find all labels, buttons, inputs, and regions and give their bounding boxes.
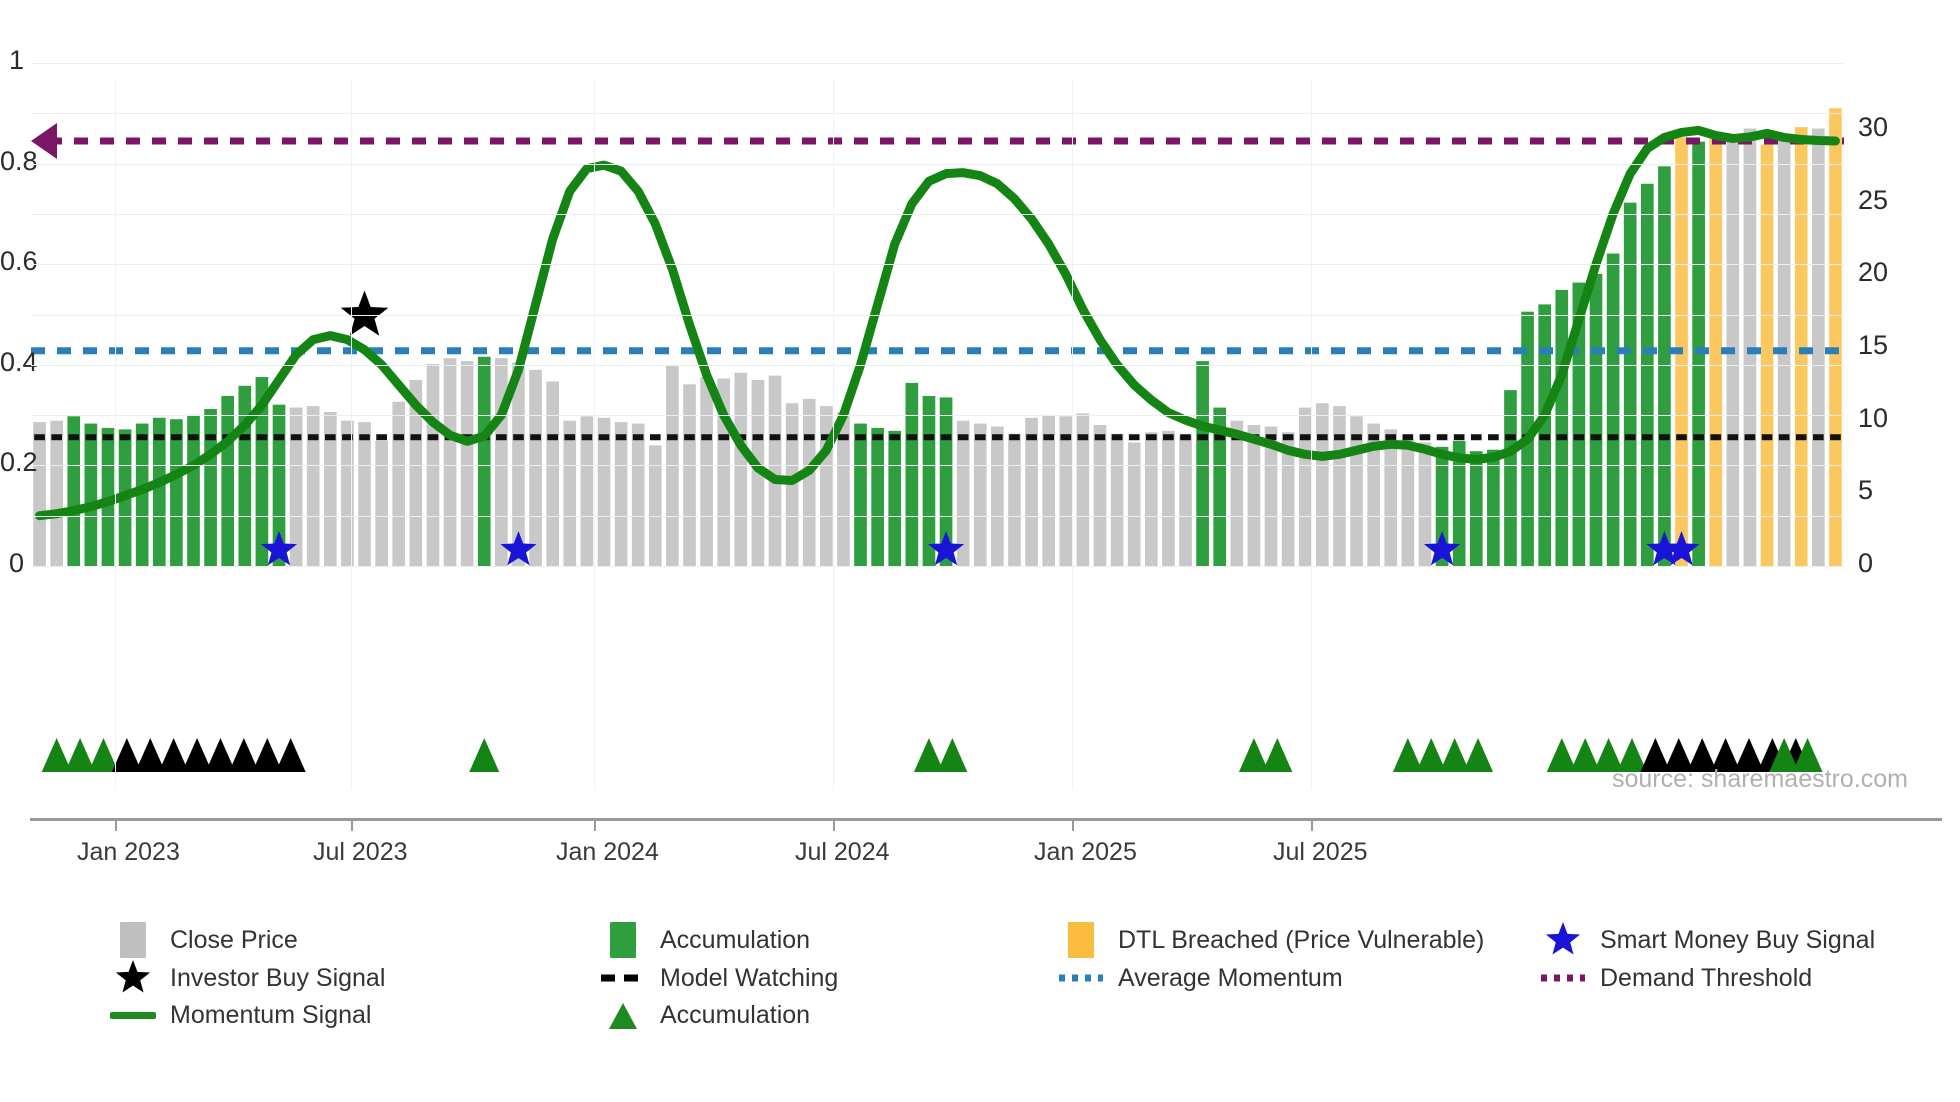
price-bar [221,396,234,566]
price-bar [820,406,833,566]
price-bar [1658,166,1671,566]
price-bar [444,358,457,566]
price-bar [1094,425,1107,566]
y-axis-left-tick: 0.8 [0,146,24,177]
dotted-line-icon [1540,972,1586,984]
accumulation-triangle-icon [937,738,967,772]
legend-item[interactable]: Accumulation [600,995,810,1035]
price-bar [1624,203,1637,566]
bar-swatch-icon [1068,922,1094,958]
accumulation-triangle-icon [1262,738,1292,772]
legend-bar-swatch [600,920,646,960]
price-bar [290,408,303,566]
chart-canvas: 10.80.60.40.20 302520151050 Jan 2023Jul … [0,0,1960,1102]
price-bar [307,406,320,566]
price-bar [1384,429,1397,566]
gridline [31,214,1844,215]
price-bar [375,441,388,566]
price-bar [85,424,98,566]
price-bar [734,373,747,566]
star-icon [113,958,153,998]
price-bar [1196,361,1209,566]
legend-item-label: Average Momentum [1118,964,1343,993]
accumulation-triangle-icon [914,738,944,772]
price-bar [1111,434,1124,566]
y-axis-right-tick: 5 [1858,475,1873,506]
price-bar [1162,431,1175,566]
x-axis-tick [115,818,117,831]
price-bar [615,422,628,566]
price-bar [906,383,919,566]
price-bar [1008,434,1021,566]
gridline [31,566,1844,567]
accumulation-triangle-icon [205,738,235,772]
x-gridline [1311,80,1312,790]
y-axis-right-tick: 0 [1858,548,1873,579]
price-bar [632,424,645,566]
accumulation-triangle-icon [88,738,118,772]
x-gridline [594,80,595,790]
legend-item[interactable]: Smart Money Buy Signal [1540,920,1875,960]
x-axis-tick [1072,818,1074,831]
accumulation-triangle-icon [1547,738,1577,772]
price-bar [1230,421,1243,566]
price-bar [1316,403,1329,566]
price-bar [923,396,936,566]
price-bar [1470,451,1483,566]
x-axis-tick [594,818,596,831]
x-axis-line [30,818,1942,821]
price-bar [461,361,474,566]
gridline [31,465,1844,466]
price-bar [1761,145,1774,566]
x-axis-tick-label: Jan 2024 [556,838,659,867]
y-axis-right-tick: 30 [1858,112,1888,143]
gridline [31,164,1844,165]
price-bar [478,357,491,566]
accumulation-triangle-icon [1393,738,1423,772]
legend-item-label: Investor Buy Signal [170,964,385,993]
x-axis-tick-label: Jul 2024 [795,838,890,867]
price-bar [769,376,782,566]
y-axis-right-tick: 20 [1858,257,1888,288]
triangle-icon [604,998,642,1032]
price-bar [1248,425,1261,566]
solid-line-icon [110,1012,156,1019]
gridline [31,516,1844,517]
legend-line-swatch [110,995,156,1035]
legend-item[interactable]: Momentum Signal [110,995,371,1035]
price-bar [1333,406,1346,566]
x-axis-tick-label: Jan 2023 [77,838,180,867]
legend-dotted-swatch [1058,958,1104,998]
price-bar [358,422,371,566]
y-axis-right-tick: 10 [1858,403,1888,434]
gridline [31,415,1844,416]
legend-item-label: Smart Money Buy Signal [1600,926,1875,955]
accumulation-triangle-icon [252,738,282,772]
price-bar [170,419,183,566]
legend-item[interactable]: Close Price [110,920,298,960]
accumulation-triangle-icon [135,738,165,772]
x-axis-tick-label: Jul 2023 [313,838,408,867]
price-bar [1641,184,1654,566]
legend-item[interactable]: Demand Threshold [1540,958,1812,998]
y-axis-left-tick: 1 [0,45,24,76]
legend-item-label: Demand Threshold [1600,964,1812,993]
price-bar [50,421,63,566]
price-bar [1555,290,1568,566]
price-bar [974,424,987,566]
legend-star-swatch [1540,920,1586,960]
accumulation-triangle-group [42,738,1823,772]
legend-dashed-swatch [600,958,646,998]
accumulation-triangle-icon [112,738,142,772]
price-bar [1590,274,1603,566]
accumulation-triangle-icon [469,738,499,772]
price-bar [392,402,405,566]
price-bar [529,370,542,566]
bar-swatch-icon [610,922,636,958]
price-bar [991,426,1004,566]
gridline [31,315,1844,316]
price-bar [495,358,508,566]
price-bar [1607,254,1620,566]
x-gridline [1072,80,1073,790]
price-bar [1128,442,1141,566]
y-axis-right-tick: 25 [1858,185,1888,216]
investor-buy-star-icon [341,291,389,336]
x-axis-tick [1311,818,1313,831]
price-bar [238,386,251,566]
price-bar [204,409,217,566]
price-bar [1829,108,1842,566]
gridline [31,264,1844,265]
legend-item-label: Accumulation [660,926,810,955]
price-bar [1504,390,1517,566]
accumulation-triangle-icon [42,738,72,772]
source-note: source: sharemaestro.com [1612,765,1908,794]
price-bar [1487,450,1500,566]
price-bar [563,421,576,566]
legend-triangle-swatch [600,995,646,1035]
price-bar [1402,440,1415,566]
x-axis-tick-label: Jul 2025 [1273,838,1368,867]
price-bar [1145,432,1158,566]
price-bar [546,381,559,566]
dashed-line-icon [600,972,646,984]
legend-item[interactable]: Accumulation [600,920,810,960]
legend-bar-swatch [1058,920,1104,960]
legend-item-label: Accumulation [660,1001,810,1030]
legend-item-label: Close Price [170,926,298,955]
y-axis-left-tick: 0.4 [0,347,24,378]
dotted-line-icon [1058,972,1104,984]
price-bar [1709,133,1722,566]
legend-dotted-swatch [1540,958,1586,998]
accumulation-triangle-icon [1570,738,1600,772]
price-bar [803,399,816,566]
price-bar [1299,408,1312,566]
accumulation-triangle-icon [229,738,259,772]
legend-item[interactable]: Average Momentum [1058,958,1343,998]
x-axis-tick [833,818,835,831]
y-axis-right-tick: 15 [1858,330,1888,361]
accumulation-triangle-icon [276,738,306,772]
x-gridline [115,80,116,790]
accumulation-triangle-icon [1463,738,1493,772]
price-bar [683,384,696,566]
x-gridline [833,80,834,790]
price-bar [871,428,884,566]
accumulation-triangle-icon [65,738,95,772]
accumulation-triangle-icon [1440,738,1470,772]
legend-star-swatch [110,958,156,998]
legend-item-label: Model Watching [660,964,838,993]
legend-item[interactable]: DTL Breached (Price Vulnerable) [1058,920,1484,960]
legend-item-label: DTL Breached (Price Vulnerable) [1118,926,1484,955]
price-bar [1795,127,1808,566]
accumulation-triangle-icon [1416,738,1446,772]
gridline [31,113,1844,114]
price-bar [1179,435,1192,566]
price-bar [854,424,867,566]
price-bar [888,431,901,566]
gridline [31,365,1844,366]
legend-bar-swatch [110,920,156,960]
y-axis-left-tick: 0 [0,548,24,579]
star-icon [1543,920,1583,960]
legend-item[interactable]: Investor Buy Signal [110,958,385,998]
x-axis-tick-label: Jan 2025 [1034,838,1137,867]
x-gridline [351,80,352,790]
price-bar [649,445,662,566]
bar-swatch-icon [120,922,146,958]
accumulation-triangle-icon [1239,738,1269,772]
gridline [31,63,1844,64]
accumulation-triangle-icon [182,738,212,772]
x-axis-tick [351,818,353,831]
legend-item[interactable]: Model Watching [600,958,838,998]
price-bar [1812,129,1825,566]
price-bar [700,377,713,566]
legend-item-label: Momentum Signal [170,1001,371,1030]
y-axis-left-tick: 0.6 [0,246,24,277]
price-bar [33,422,46,566]
accumulation-triangle-icon [159,738,189,772]
y-axis-left-tick: 0.2 [0,447,24,478]
